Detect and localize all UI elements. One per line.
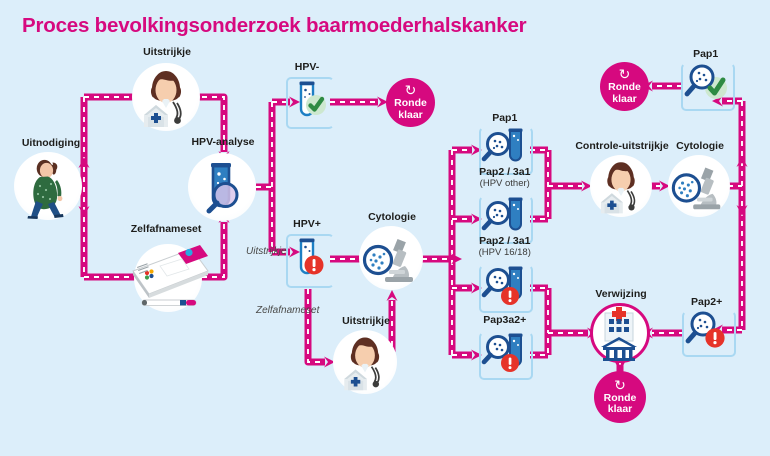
node-pap2-3a1-hpv-other-sublabel: (HPV other) (480, 178, 530, 190)
magnifier-tube-alert-icon (481, 330, 533, 380)
node-verwijzing-label: Verwijzing (595, 289, 646, 301)
node-cytologie-right[interactable]: Cytologie (668, 155, 732, 219)
node-pap2-3a1-hpv-1618-sublabel: (HPV 16/18) (479, 247, 531, 259)
node-uitstrijkje-top[interactable]: Uitstrijkje (132, 63, 202, 133)
refresh-icon: ↻ (405, 84, 417, 97)
edge-label-zelfafnameset: Zelfafnameset (256, 305, 319, 317)
node-uitnodiging[interactable]: Uitnodiging (14, 152, 88, 226)
node-hpv-analyse-label: HPV-analyse (191, 137, 254, 149)
node-uitnodiging-label: Uitnodiging (22, 138, 80, 150)
node-hpv-analyse[interactable]: HPV-analyse (188, 153, 258, 223)
microscope-icon (668, 155, 730, 217)
node-pap2-3a1-hpv-other-label: Pap2 / 3a1 (479, 167, 530, 179)
node-pap2plus[interactable]: Pap2+ (682, 310, 738, 360)
node-pap1-right-label: Pap1 (693, 49, 718, 61)
node-pap3a2plus[interactable]: Pap3a2+ (479, 331, 535, 383)
node-pap2-3a1-hpv-1618-label: Pap2 / 3a1 (479, 236, 530, 248)
refresh-icon: ↻ (619, 68, 631, 81)
test-tube-check-icon (289, 77, 335, 125)
node-ronde-klaar-bottom[interactable]: ↻ Ronde klaar (594, 371, 646, 423)
node-uitstrijkje-bottom[interactable]: Uitstrijkje (333, 330, 399, 396)
node-pap1-right[interactable]: Pap1 (681, 62, 737, 112)
test-tube-magnifier-icon (188, 153, 256, 221)
node-ronde-klaar-top[interactable]: ↻ Ronde klaar (386, 78, 435, 127)
node-zelfafnameset[interactable]: Zelfafnameset (120, 240, 216, 316)
doctor-icon (132, 63, 200, 131)
test-tube-alert-icon (289, 234, 335, 284)
node-ronde-klaar-right[interactable]: ↻ Ronde klaar (600, 62, 649, 111)
node-hpv-negative[interactable]: HPV- (286, 75, 336, 131)
node-hpv-positive[interactable]: HPV+ (286, 232, 336, 290)
node-pap3a2plus-label: Pap3a2+ (483, 315, 526, 327)
node-controle-uitstrijkje-label: Controle-uitstrijkje (575, 141, 668, 153)
node-uitstrijkje-bottom-label: Uitstrijkje (342, 316, 390, 328)
node-ronde-klaar-right-line1: Ronde (608, 82, 641, 94)
magnifier-alert-icon (683, 308, 735, 358)
magnifier-check-icon (682, 60, 734, 110)
node-ronde-klaar-bottom-line2: klaar (608, 404, 633, 416)
node-hpv-positive-label: HPV+ (293, 219, 321, 231)
magnifier-tube-alert-icon (481, 263, 533, 313)
node-pap1-mid-label: Pap1 (492, 113, 517, 125)
node-verwijzing[interactable]: Verwijzing (590, 303, 652, 365)
node-controle-uitstrijkje[interactable]: Controle-uitstrijkje (590, 155, 654, 219)
node-pap2plus-label: Pap2+ (691, 297, 722, 309)
walking-woman-icon (14, 152, 82, 220)
node-cytologie-mid-label: Cytologie (368, 212, 416, 224)
doctor-icon (590, 155, 652, 217)
microscope-icon (359, 226, 423, 290)
node-hpv-negative-label: HPV- (295, 62, 320, 74)
node-pap2-3a1-hpv-1618[interactable]: Pap2 / 3a1 (HPV 16/18) (479, 264, 535, 316)
diagram-canvas: Proces bevolkingsonderzoek baarmoederhal… (0, 0, 770, 456)
hospital-icon (594, 305, 644, 361)
node-zelfafnameset-label: Zelfafnameset (131, 224, 202, 236)
node-uitstrijkje-top-label: Uitstrijkje (143, 47, 191, 59)
node-ronde-klaar-top-line2: klaar (398, 110, 423, 122)
node-ronde-klaar-top-line1: Ronde (394, 98, 427, 110)
node-ronde-klaar-right-line2: klaar (612, 94, 637, 106)
self-sampling-kit-icon (120, 240, 216, 316)
node-cytologie-right-label: Cytologie (676, 141, 724, 153)
node-cytologie-mid[interactable]: Cytologie (359, 226, 425, 292)
refresh-icon: ↻ (614, 379, 626, 392)
doctor-icon (333, 330, 397, 394)
edge-label-uitstrijkje: Uitstrijkje (246, 246, 287, 258)
